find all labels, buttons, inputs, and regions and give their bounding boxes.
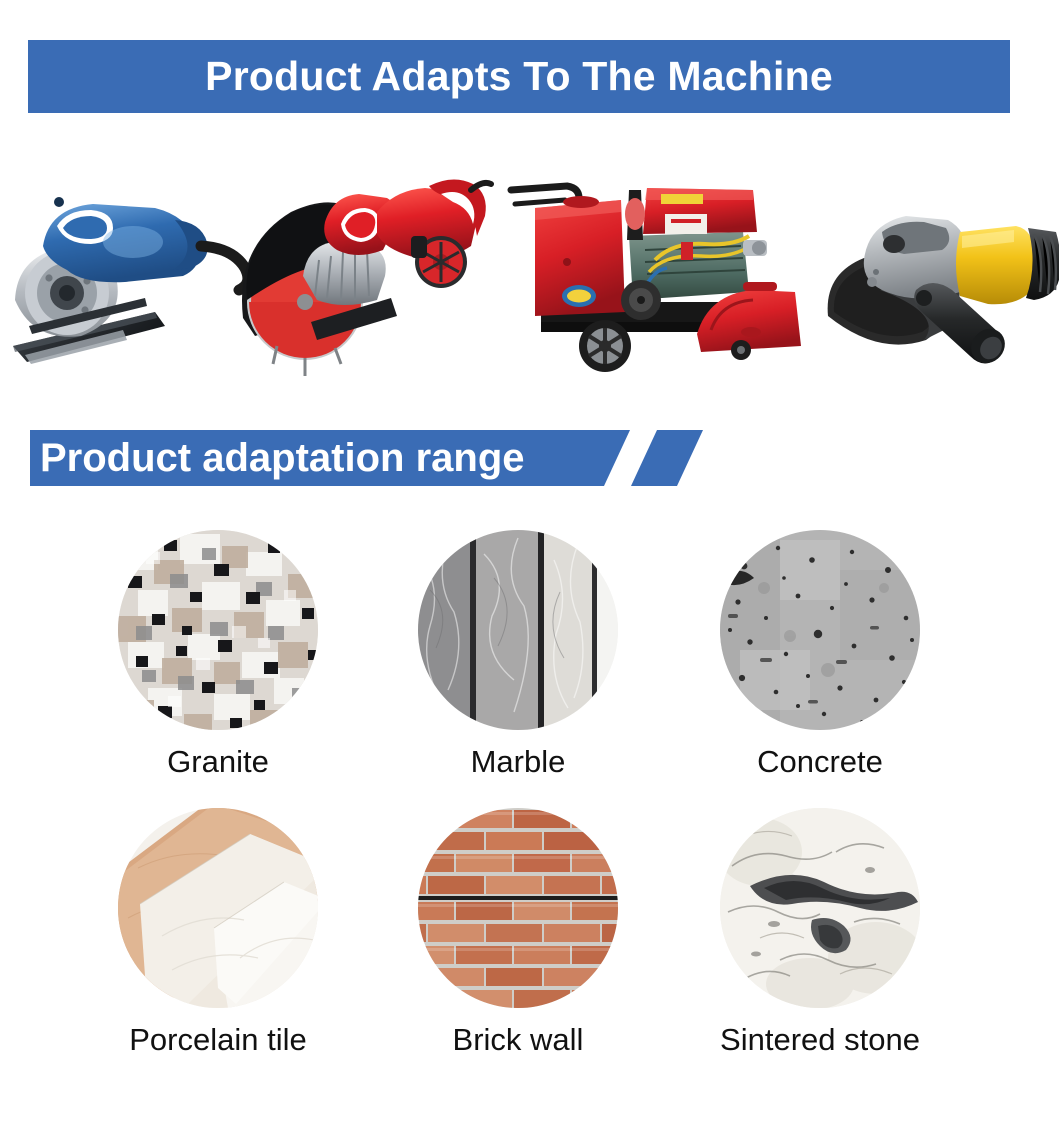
concrete-road-saw-icon xyxy=(505,150,825,400)
material-label: Granite xyxy=(68,744,368,780)
material-row-top: Granite xyxy=(0,530,1059,808)
range-accent-slash-icon xyxy=(631,430,703,486)
granite-swatch xyxy=(118,530,318,730)
material-item-brick-wall[interactable]: Brick wall xyxy=(368,808,668,1058)
material-label: Marble xyxy=(368,744,668,780)
red-cut-off-saw-icon xyxy=(225,150,495,400)
concrete-swatch xyxy=(720,530,920,730)
granite-texture-icon xyxy=(118,530,318,730)
sintered-stone-swatch xyxy=(720,808,920,1008)
marble-swatch xyxy=(418,530,618,730)
page-title: Product Adapts To The Machine xyxy=(205,53,833,100)
sintered-stone-texture-icon xyxy=(720,808,920,1008)
material-label: Porcelain tile xyxy=(68,1022,368,1058)
material-item-porcelain-tile[interactable]: Porcelain tile xyxy=(68,808,368,1058)
product-adapts-banner: Product Adapts To The Machine xyxy=(28,40,1010,113)
product-adaptation-range-banner: Product adaptation range xyxy=(30,430,720,492)
porcelain-tile-texture-icon xyxy=(118,808,318,1008)
blue-marble-cutter-icon xyxy=(5,150,255,400)
machine-image-red-cut-off-saw xyxy=(225,150,495,400)
material-row-bottom: Porcelain tile xyxy=(0,808,1059,1086)
machine-image-blue-marble-cutter xyxy=(5,150,255,400)
range-banner-body: Product adaptation range xyxy=(30,430,630,486)
machine-image-angle-grinder xyxy=(820,150,1059,400)
machine-image-row xyxy=(0,150,1059,400)
brick-wall-texture-icon xyxy=(418,808,618,1008)
material-item-granite[interactable]: Granite xyxy=(68,530,368,780)
material-label: Sintered stone xyxy=(670,1022,970,1058)
material-item-sintered-stone[interactable]: Sintered stone xyxy=(670,808,970,1058)
material-label: Brick wall xyxy=(368,1022,668,1058)
material-grid: Granite xyxy=(0,530,1059,1086)
range-title: Product adaptation range xyxy=(40,436,525,481)
concrete-texture-icon xyxy=(720,530,920,730)
material-item-concrete[interactable]: Concrete xyxy=(670,530,970,780)
marble-texture-icon xyxy=(418,530,618,730)
machine-image-concrete-road-saw xyxy=(505,150,825,400)
porcelain-tile-swatch xyxy=(118,808,318,1008)
material-item-marble[interactable]: Marble xyxy=(368,530,668,780)
angle-grinder-icon xyxy=(820,150,1059,400)
material-label: Concrete xyxy=(670,744,970,780)
brick-wall-swatch xyxy=(418,808,618,1008)
